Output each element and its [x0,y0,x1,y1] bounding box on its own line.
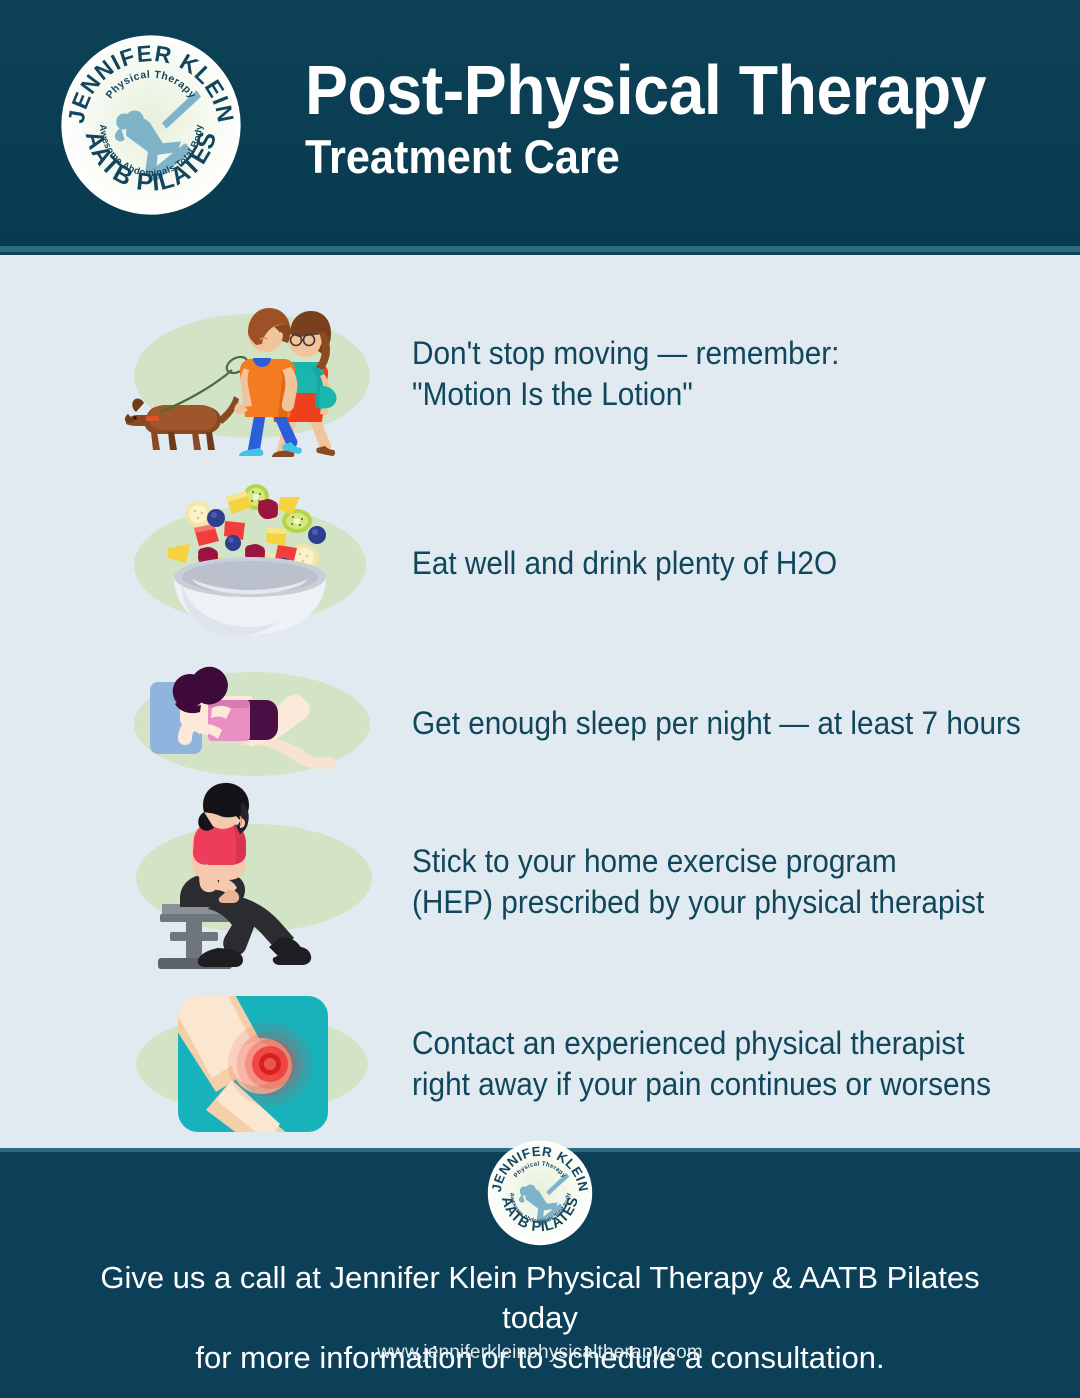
tip-line: "Motion Is the Lotion" [412,374,979,415]
fruit-salad-bowl-illustration [120,473,385,653]
header-accent-rule-shadow [0,252,1080,255]
tip-text-1: Eat well and drink plenty of H2O [412,473,979,653]
infographic-poster: JENNIFER KLEIN Physical Therapy AATB PIL… [0,0,1080,1398]
tip-line: Get enough sleep per night — at least 7 … [412,703,979,744]
tip-illustration-3 [120,782,385,982]
tip-illustration-4 [120,988,385,1140]
tip-line: Contact an experienced physical therapis… [412,1023,979,1064]
tip-illustration-2 [120,656,385,791]
tip-illustration-1 [120,473,385,653]
bowl-icon [174,557,326,636]
person-sleeping-illustration [120,656,385,791]
company-logo-header: JENNIFER KLEIN Physical Therapy AATB PIL… [60,32,242,218]
title-block: Post-Physical Therapy Treatment Care [305,52,1045,186]
page-title: Post-Physical Therapy [305,52,986,128]
woman-bench-exercise-illustration [120,782,385,982]
tip-text-4: Contact an experienced physical therapis… [412,988,979,1140]
list-item: Get enough sleep per night — at least 7 … [0,656,1080,791]
list-item: Contact an experienced physical therapis… [0,988,1080,1140]
couple-walking-dog-illustration [120,266,385,481]
tip-line: (HEP) prescribed by your physical therap… [412,882,979,923]
tip-illustration-0 [120,266,385,481]
tip-line: Stick to your home exercise program [412,841,979,882]
list-item: Eat well and drink plenty of H2O [0,473,1080,653]
tip-line: right away if your pain continues or wor… [412,1064,979,1105]
page-subtitle: Treatment Care [305,128,986,186]
list-item: Stick to your home exercise program (HEP… [0,782,1080,982]
tip-line: Eat well and drink plenty of H2O [412,543,979,584]
knee-pain-illustration [120,988,385,1140]
tip-text-3: Stick to your home exercise program (HEP… [412,782,979,982]
website-url[interactable]: www.jenniferkleinphysicaltherapy.com [90,1342,990,1364]
tip-text-0: Don't stop moving — remember: "Motion Is… [412,266,979,481]
tip-line: Don't stop moving — remember: [412,333,979,374]
list-item: Don't stop moving — remember: "Motion Is… [0,266,1080,481]
company-logo-footer: JENNIFER KLEIN Physical Therapy AATB PIL… [487,1139,593,1247]
tip-text-2: Get enough sleep per night — at least 7 … [412,656,979,791]
footer-cta-line: Give us a call at Jennifer Klein Physica… [90,1258,990,1338]
